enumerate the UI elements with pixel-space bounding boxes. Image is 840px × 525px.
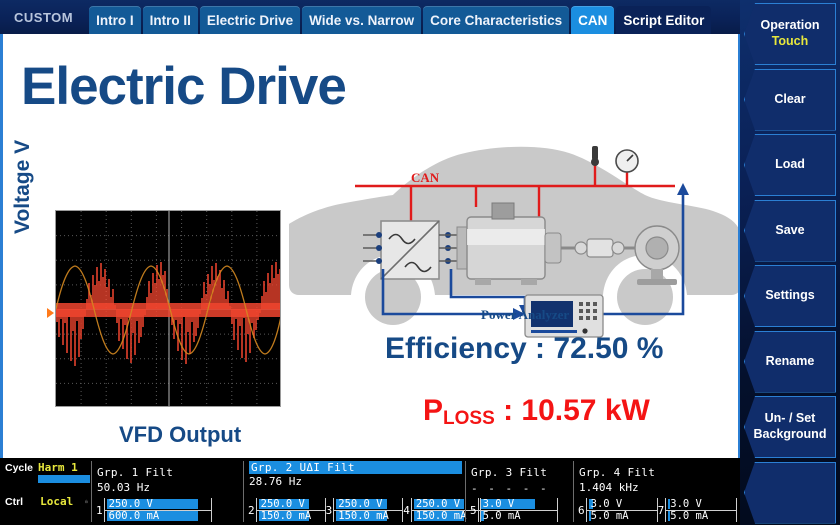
scope-cursor-marker-icon — [47, 308, 54, 318]
cycle-bar — [38, 475, 90, 483]
inverter-icon — [381, 221, 439, 279]
softkey-set-background-line2: Background — [754, 427, 827, 443]
main-canvas: Electric Drive — [0, 34, 740, 458]
group-3-frequency: - - - - - — [471, 482, 570, 495]
softkey-rename-label: Rename — [766, 354, 815, 370]
ploss-symbol: P — [423, 394, 443, 427]
softkey-settings[interactable]: Settings — [744, 265, 836, 327]
ctrl-label: Ctrl — [5, 496, 23, 508]
channel-range-voltage: 250.0 V — [109, 498, 153, 510]
softkey-set-background[interactable]: Un- / Set Background — [744, 396, 836, 458]
channel-range-voltage: 250.0 V — [416, 498, 460, 510]
channel-number: 4 — [403, 504, 411, 517]
channel-range-voltage: 250.0 V — [261, 498, 305, 510]
scope-caption: VFD Output — [119, 422, 241, 448]
softkey-load-label: Load — [775, 157, 805, 173]
softkey-save-label: Save — [775, 223, 804, 239]
status-bar: Cycle Harm 1 Ctrl Local Grp. 1 Filt 50.0… — [0, 458, 740, 525]
tab-core-characteristics[interactable]: Core Characteristics — [423, 6, 569, 34]
channel-row: 3 250.0 V 150.0 mA — [326, 498, 404, 522]
channel-range-voltage: 3.0 V — [591, 498, 623, 510]
softkey-clear[interactable]: Clear — [744, 69, 836, 131]
channel-range-current: 150.0 mA — [261, 510, 312, 522]
tab-intro-ii[interactable]: Intro II — [143, 6, 198, 34]
page-title: Electric Drive — [21, 60, 346, 113]
channel-number: 7 — [658, 504, 666, 517]
scope-display[interactable] — [55, 210, 281, 407]
gauge-icon — [616, 150, 638, 172]
cycle-label: Cycle — [5, 462, 33, 474]
softkey-set-background-line1: Un- / Set — [765, 411, 816, 427]
softkey-clear-label: Clear — [774, 92, 805, 108]
softkey-operation[interactable]: Operation Touch — [744, 3, 836, 65]
tab-intro-i[interactable]: Intro I — [89, 6, 141, 34]
channel-range-current: 5.0 mA — [483, 510, 521, 522]
power-loss-readout: PLOSS : 10.57 kW — [423, 394, 650, 428]
softkey-rename[interactable]: Rename — [744, 331, 836, 393]
group-2-title: Grp. 2 UΔI Filt — [249, 461, 462, 474]
can-bus-label: CAN — [411, 170, 439, 186]
group-4-frequency: 1.404 kHz — [579, 481, 736, 494]
tab-wide-vs-narrow[interactable]: Wide vs. Narrow — [302, 6, 421, 34]
channel-number: 5 — [470, 504, 478, 517]
channel-row: 1 250.0 V 600.0 mA — [96, 498, 212, 522]
cycle-value[interactable]: Harm 1 — [38, 461, 78, 474]
channel-number: 2 — [248, 504, 256, 517]
group-2-frequency: 28.76 Hz — [249, 475, 462, 488]
softkey-operation-label: Operation — [760, 18, 819, 34]
status-group-1[interactable]: Grp. 1 Filt 50.03 Hz 1 250.0 V 600.0 mA — [92, 458, 244, 525]
status-group-3[interactable]: Grp. 3 Filt - - - - - 5 3.0 V 5.0 mA — [466, 458, 574, 525]
status-group-4[interactable]: Grp. 4 Filt 1.404 kHz 6 3.0 V 5.0 mA 7 3… — [574, 458, 740, 525]
softkey-load[interactable]: Load — [744, 134, 836, 196]
softkey-panel: Operation Touch Clear Load Save Settings… — [740, 0, 840, 525]
tab-script-editor[interactable]: Script Editor — [616, 6, 711, 34]
channel-row: 2 250.0 V 150.0 mA — [248, 498, 326, 522]
channel-range-current: 150.0 mA — [416, 510, 467, 522]
softkey-empty[interactable] — [744, 462, 836, 524]
ctrl-value[interactable]: Local — [40, 495, 73, 508]
tab-bar: CUSTOM Intro I Intro II Electric Drive W… — [0, 0, 740, 34]
waveform-plot — [56, 211, 281, 407]
channel-range-current: 5.0 mA — [670, 510, 708, 522]
channel-row: 7 3.0 V 5.0 mA — [658, 498, 738, 522]
motor-icon — [457, 203, 561, 285]
ploss-value: : 10.57 kW — [495, 394, 650, 427]
coupling-icon — [561, 239, 637, 257]
group-1-title: Grp. 1 Filt — [97, 466, 173, 479]
efficiency-readout: Efficiency : 72.50 % — [385, 332, 663, 366]
channel-number: 6 — [578, 504, 586, 517]
ploss-subscript: LOSS — [443, 408, 495, 429]
channel-range-voltage: 3.0 V — [670, 498, 702, 510]
softkey-settings-label: Settings — [765, 288, 814, 304]
group-1-frequency: 50.03 Hz — [97, 481, 240, 494]
softkey-save[interactable]: Save — [744, 200, 836, 262]
channel-range-current: 150.0 mA — [338, 510, 389, 522]
dynamometer-icon — [635, 226, 679, 285]
channel-number: 1 — [96, 504, 104, 517]
sensor-icon — [591, 146, 599, 166]
status-group-2[interactable]: Grp. 2 UΔI Filt 28.76 Hz 2 250.0 V 150.0… — [244, 458, 466, 525]
softkey-operation-value: Touch — [772, 34, 809, 50]
power-analyzer-label: Power Analyzer — [481, 307, 569, 323]
channel-number: 3 — [326, 504, 334, 517]
status-cycle-block: Cycle Harm 1 Ctrl Local — [0, 458, 92, 525]
channel-range-voltage: 3.0 V — [483, 498, 515, 510]
channel-row: 6 3.0 V 5.0 mA — [578, 498, 658, 522]
channel-range-voltage: 250.0 V — [338, 498, 382, 510]
custom-label: CUSTOM — [8, 10, 87, 34]
lock-icon[interactable] — [85, 494, 88, 509]
tab-electric-drive[interactable]: Electric Drive — [200, 6, 300, 34]
channel-range-current: 600.0 mA — [109, 510, 160, 522]
tab-can[interactable]: CAN — [571, 6, 614, 34]
scope-y-axis-label: Voltage V — [11, 140, 35, 234]
group-4-title: Grp. 4 Filt — [579, 466, 655, 479]
channel-row: 5 3.0 V 5.0 mA — [470, 498, 558, 522]
channel-range-current: 5.0 mA — [591, 510, 629, 522]
group-3-title: Grp. 3 Filt — [471, 466, 547, 479]
